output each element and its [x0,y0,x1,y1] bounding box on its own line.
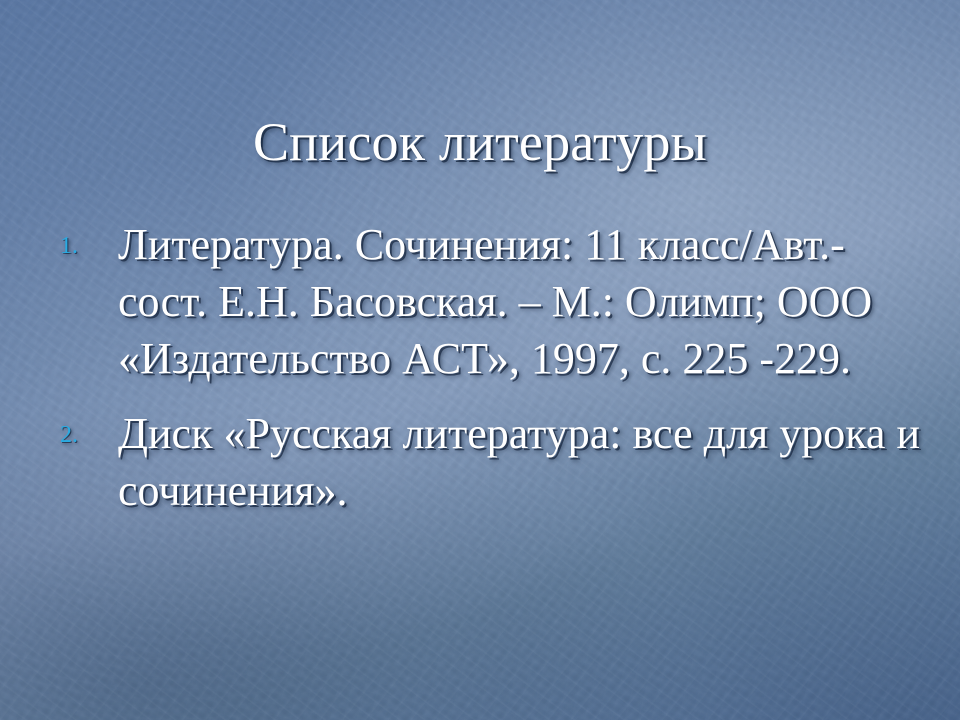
presentation-slide: Список литературы 1. Литература. Сочинен… [0,0,960,720]
list-item: 1. Литература. Сочинения: 11 класс/Авт.-… [52,216,932,387]
list-item-text-2: Диск «Русская литература: все для урока … [118,405,932,519]
list-marker-2: 2. [60,423,106,447]
slide-title: Список литературы [60,114,900,171]
list-item: 2. Диск «Русская литература: все для уро… [52,405,932,519]
list-item-text-1: Литература. Сочинения: 11 класс/Авт.-сос… [118,216,932,387]
bibliography-list: 1. Литература. Сочинения: 11 класс/Авт.-… [52,216,932,519]
list-marker-1: 1. [60,234,106,258]
